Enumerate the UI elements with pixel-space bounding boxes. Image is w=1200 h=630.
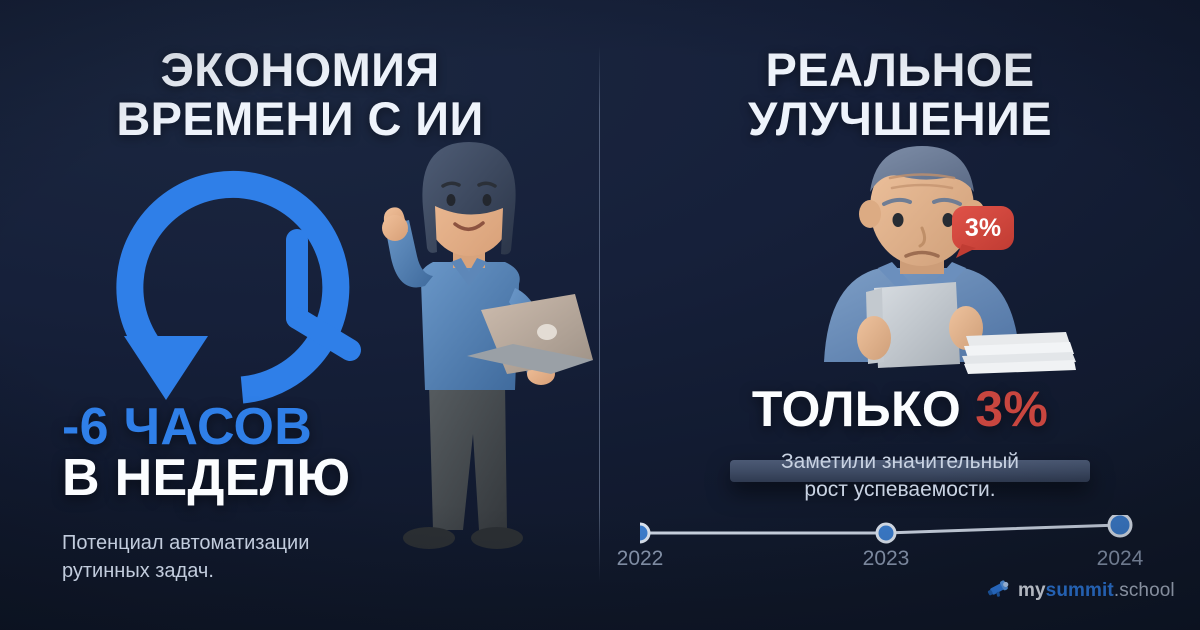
left-headline: -6 ЧАСОВ В НЕДЕЛЮ xyxy=(62,402,482,504)
left-illustration-group xyxy=(0,120,600,590)
man-reading-papers-illustration: 3% xyxy=(770,140,1090,390)
logo-part-school: .school xyxy=(1114,580,1175,601)
badge-3-percent: 3% xyxy=(952,206,1014,258)
badge-label: 3% xyxy=(965,214,1001,242)
timeline-point-2023[interactable] xyxy=(877,524,895,542)
left-subtitle: Потенциал автоматизации рутинных задач. xyxy=(62,530,422,585)
telescope-icon xyxy=(985,578,1011,603)
timeline-chart: 2022 2023 2024 xyxy=(640,515,1160,585)
right-subtitle-line1: Заметили значительный xyxy=(781,450,1019,473)
left-subtitle-line2: рутинных задач. xyxy=(62,560,214,582)
right-headline-value: 3% xyxy=(975,381,1048,437)
timeline-label-0: 2022 xyxy=(617,547,664,571)
right-subtitle: Заметили значительный рост успеваемости. xyxy=(600,448,1200,505)
woman-with-laptop-illustration xyxy=(355,134,595,590)
logo-part-summit: summit xyxy=(1046,580,1114,601)
logo-text: mysummit.school xyxy=(1018,580,1175,602)
right-subtitle-line2: рост успеваемости. xyxy=(804,478,995,501)
timeline-label-1: 2023 xyxy=(863,547,910,571)
left-headline-unit: В НЕДЕЛЮ xyxy=(62,453,482,504)
timeline-label-2: 2024 xyxy=(1097,547,1144,571)
left-headline-value: -6 ЧАСОВ xyxy=(62,402,482,453)
stack-of-papers xyxy=(962,332,1076,374)
infographic-canvas: ЭКОНОМИЯ ВРЕМЕНИ С ИИ РЕАЛЬНОЕ УЛУЧШЕНИЕ xyxy=(0,0,1200,630)
right-headline: ТОЛЬКО 3% xyxy=(600,384,1200,434)
left-title-line1: ЭКОНОМИЯ xyxy=(160,43,439,96)
right-title-line1: РЕАЛЬНОЕ xyxy=(765,43,1034,96)
brand-logo[interactable]: mysummit.school xyxy=(985,578,1175,603)
logo-part-my: my xyxy=(1018,580,1046,601)
left-subtitle-line1: Потенциал автоматизации xyxy=(62,532,309,554)
right-headline-prefix: ТОЛЬКО xyxy=(752,381,961,437)
timeline-point-2022[interactable] xyxy=(640,524,649,542)
timeline-point-2024[interactable] xyxy=(1109,515,1131,536)
